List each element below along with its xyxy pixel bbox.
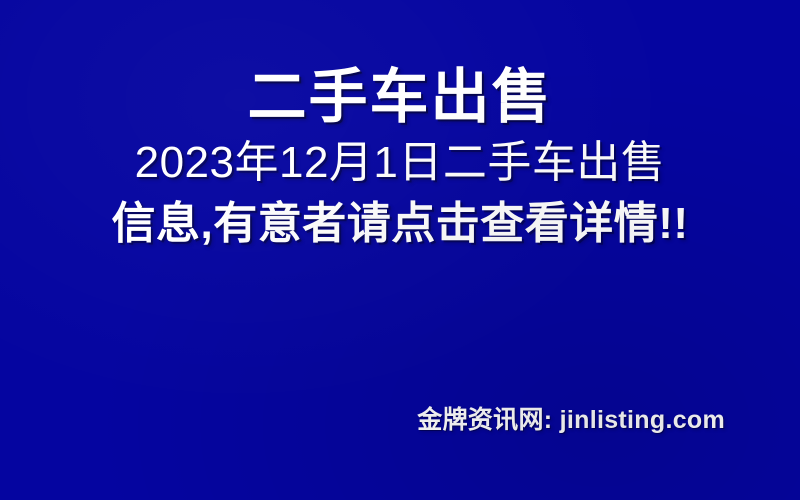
footer-block: 金牌资讯网: jinlisting.com [0, 400, 725, 436]
page-title: 二手车出售 [247, 64, 552, 130]
body-block: 2023年12月1日二手车出售 信息,有意者请点击查看详情!! [0, 134, 800, 252]
body-line-2: 信息,有意者请点击查看详情!! [0, 195, 800, 252]
footer-site-url[interactable]: jinlisting.com [560, 406, 725, 434]
footer-watermark: 金牌资讯网: jinlisting.com [417, 400, 725, 436]
body-line-1: 2023年12月1日二手车出售 [0, 134, 800, 191]
footer-site-label: 金牌资讯网: [417, 406, 552, 434]
poster-canvas: 二手车出售 2023年12月1日二手车出售 信息,有意者请点击查看详情!! 金牌… [0, 0, 800, 500]
